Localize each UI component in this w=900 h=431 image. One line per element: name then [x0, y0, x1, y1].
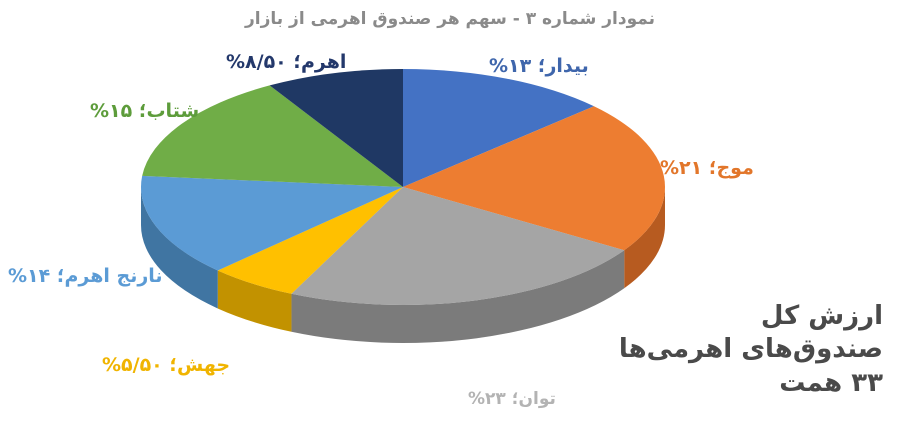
total-value-line-3: ۳۳ همت [645, 367, 883, 400]
slice-label-mowj: موج؛ ۲۱% [660, 158, 754, 180]
slice-label-jahesh: جهش؛ ۵/۵۰% [102, 355, 230, 377]
slice-label-shetab: شتاب؛ ۱۵% [90, 101, 199, 123]
total-value-annotation: ارزش کل صندوق‌های اهرمی‌ها ۳۳ همت [645, 300, 883, 400]
slice-label-bidar: بیدار؛ ۱۳% [489, 56, 589, 78]
pie-chart-page: نمودار شماره ۳ - سهم هر صندوق اهرمی از ب… [0, 0, 900, 431]
slice-label-tavan: توان؛ ۲۳% [468, 390, 556, 410]
slice-label-ahrom: اهرم؛ ۸/۵۰% [226, 52, 346, 74]
total-value-line-1: ارزش کل [645, 300, 883, 333]
total-value-line-2: صندوق‌های اهرمی‌ها [645, 333, 883, 366]
slice-label-narenj: نارنج اهرم؛ ۱۴% [8, 266, 163, 288]
